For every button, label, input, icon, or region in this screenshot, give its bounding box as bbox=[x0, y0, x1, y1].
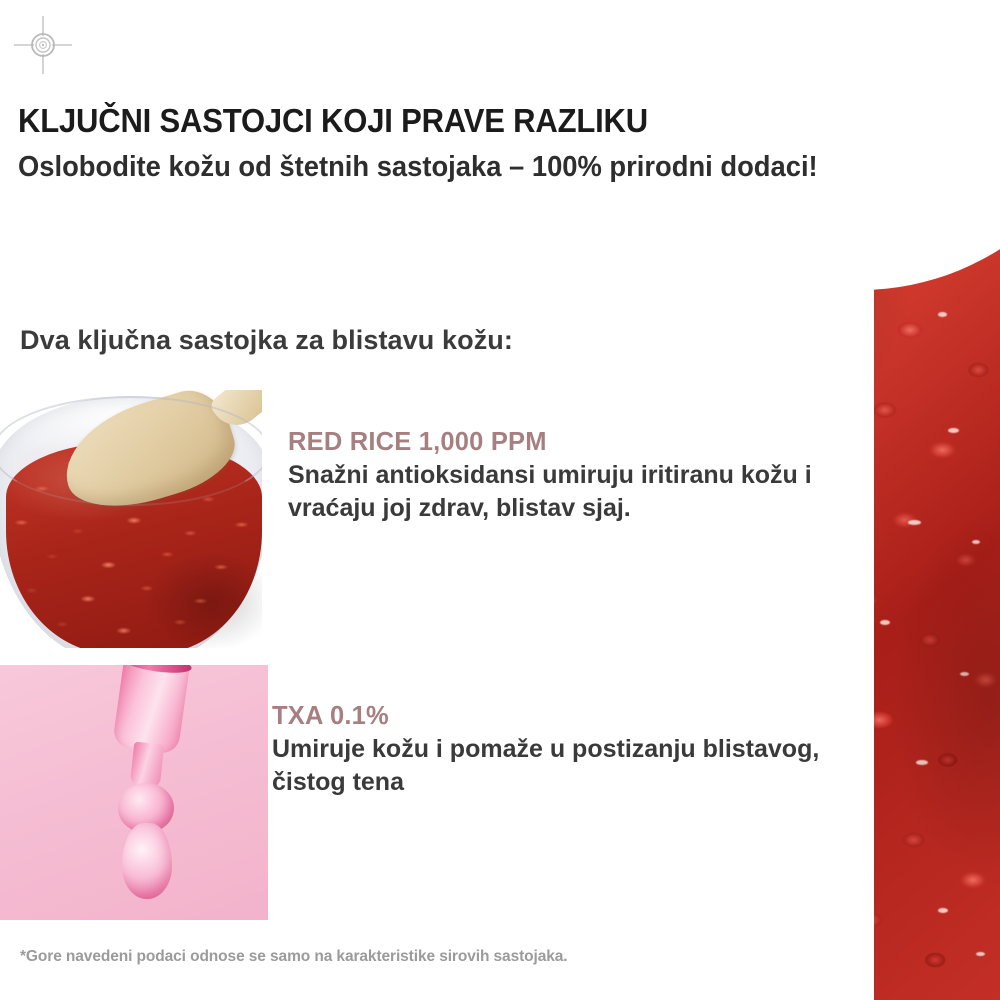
txa-title: TXA 0.1% bbox=[272, 702, 852, 731]
serum-droplet bbox=[122, 823, 172, 899]
section-lead: Dva ključna sastojka za blistavu kožu: bbox=[20, 325, 513, 356]
dropper-neck bbox=[130, 742, 164, 789]
red-rice-image bbox=[0, 390, 262, 648]
red-rice-title: RED RICE 1,000 PPM bbox=[288, 428, 848, 457]
infographic-canvas: KLJUČNI SASTOJCI KOJI PRAVE RAZLIKU Oslo… bbox=[0, 0, 1000, 1000]
txa-description: Umiruje kožu i pomaže u postizanju blist… bbox=[272, 733, 852, 798]
bowl-rim bbox=[0, 396, 262, 506]
dropper-tube bbox=[112, 665, 190, 755]
page-title: KLJUČNI SASTOJCI KOJI PRAVE RAZLIKU bbox=[18, 104, 761, 137]
red-rice-text-block: RED RICE 1,000 PPM Snažni antioksidansi … bbox=[288, 428, 848, 524]
registration-mark-icon bbox=[12, 14, 74, 76]
page-subtitle: Oslobodite kožu od štetnih sastojaka – 1… bbox=[18, 152, 844, 183]
footnote: *Gore navedeni podaci odnose se samo na … bbox=[20, 948, 568, 966]
red-rice-description: Snažni antioksidansi umiruju iritiranu k… bbox=[288, 459, 848, 524]
txa-text-block: TXA 0.1% Umiruje kožu i pomaže u postiza… bbox=[272, 702, 852, 798]
txa-image bbox=[0, 665, 268, 920]
